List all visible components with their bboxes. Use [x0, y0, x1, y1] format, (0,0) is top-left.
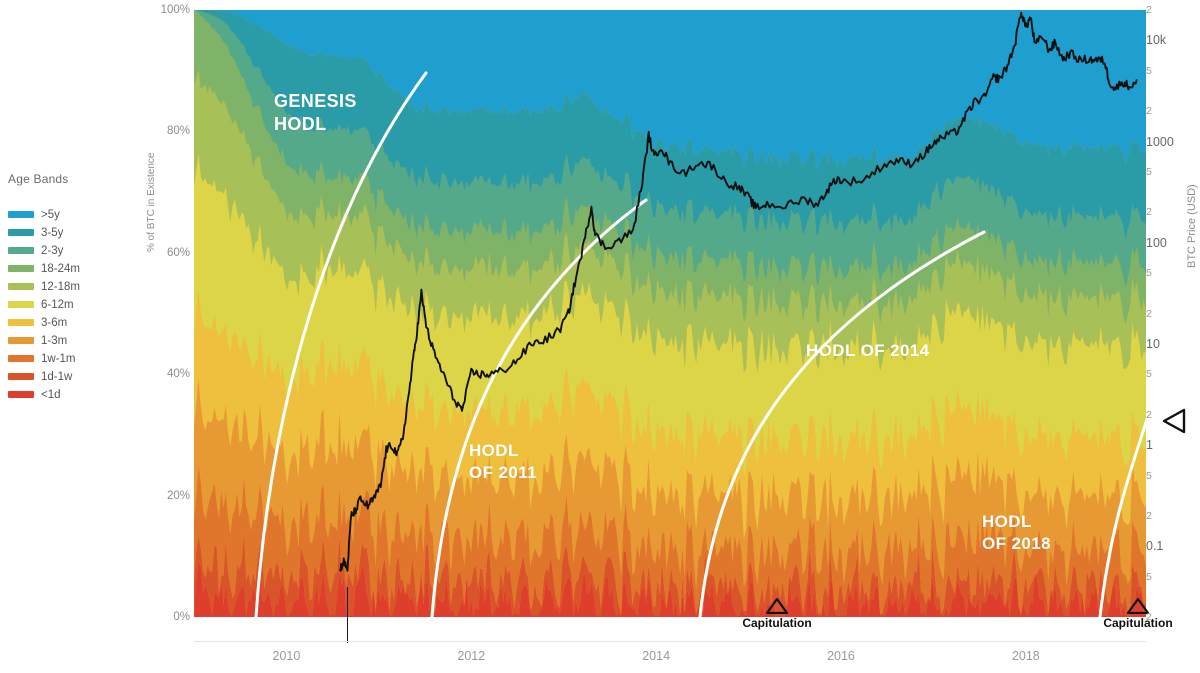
- capitulation-marker-1: Capitulation: [717, 598, 837, 630]
- legend-items: >5y3-5y2-3y18-24m12-18m6-12m3-6m1-3m1w-1…: [8, 206, 128, 403]
- legend-item-35y[interactable]: 3-5y: [8, 224, 128, 241]
- y-axis-right-tick: 0.1: [1146, 539, 1163, 553]
- legend-swatch-icon: [8, 265, 34, 272]
- legend-item-label: 18-24m: [41, 263, 80, 275]
- annotation-hodl-2014: HODL OF 2014: [806, 340, 930, 362]
- y-axis-left-tick: 80%: [144, 125, 190, 137]
- y-axis-right-title: BTC Price (USD): [1186, 184, 1198, 268]
- y-axis-right-tick: 5: [1146, 470, 1152, 482]
- y-axis-right-tick: 5: [1146, 65, 1152, 77]
- y-axis-right-tick: 5: [1146, 571, 1152, 583]
- legend-swatch-icon: [8, 373, 34, 380]
- x-axis-tick: 2010: [273, 649, 301, 663]
- y-axis-left-tick: 0%: [144, 611, 190, 623]
- y-axis-right-tick: 10k: [1146, 33, 1166, 47]
- y-axis-right-tick: 2: [1146, 611, 1152, 623]
- legend-swatch-icon: [8, 391, 34, 398]
- legend-item-1218m[interactable]: 12-18m: [8, 278, 128, 295]
- capitulation-label: Capitulation: [717, 616, 837, 630]
- y-axis-right-tick: 2: [1146, 4, 1152, 16]
- legend-item-1824m[interactable]: 18-24m: [8, 260, 128, 277]
- legend-swatch-icon: [8, 319, 34, 326]
- price-start-tick: [347, 587, 348, 643]
- legend-item-label: 2-3y: [41, 245, 63, 257]
- hodl-waves-chart: Age Bands >5y3-5y2-3y18-24m12-18m6-12m3-…: [0, 0, 1200, 673]
- x-axis-tick: 2012: [457, 649, 485, 663]
- y-axis-right-tick: 5: [1146, 166, 1152, 178]
- y-axis-left: 100%80%60%40%20%0%: [140, 0, 190, 673]
- legend-item-label: 1-3m: [41, 335, 67, 347]
- y-axis-right-tick: 5: [1146, 267, 1152, 279]
- y-axis-right-tick: 2: [1146, 206, 1152, 218]
- y-axis-left-tick: 40%: [144, 368, 190, 380]
- legend-item-label: 6-12m: [41, 299, 74, 311]
- legend-item-label: <1d: [41, 389, 61, 401]
- y-axis-right: 210k521000521005210521520.152: [1146, 0, 1186, 673]
- y-axis-left-title: % of BTC in Existence: [146, 153, 157, 252]
- y-axis-right-tick: 2: [1146, 510, 1152, 522]
- legend-item-1d[interactable]: <1d: [8, 386, 128, 403]
- legend-item-5y[interactable]: >5y: [8, 206, 128, 223]
- legend-item-612m[interactable]: 6-12m: [8, 296, 128, 313]
- legend-item-label: 12-18m: [41, 281, 80, 293]
- annotation-hodl-2011: HODL OF 2011: [469, 440, 537, 484]
- legend-swatch-icon: [8, 337, 34, 344]
- y-axis-right-tick: 100: [1146, 236, 1167, 250]
- legend-item-label: 3-6m: [41, 317, 67, 329]
- triangle-icon: [766, 598, 788, 614]
- y-axis-right-tick: 2: [1146, 105, 1152, 117]
- x-axis-tick: 2018: [1012, 649, 1040, 663]
- legend-item-1w1m[interactable]: 1w-1m: [8, 350, 128, 367]
- x-axis: 20102012201420162018: [0, 641, 1200, 673]
- legend-swatch-icon: [8, 247, 34, 254]
- legend-item-23y[interactable]: 2-3y: [8, 242, 128, 259]
- legend-item-36m[interactable]: 3-6m: [8, 314, 128, 331]
- annotation-hodl-2018: HODL OF 2018: [982, 511, 1051, 555]
- legend-item-label: 3-5y: [41, 227, 63, 239]
- y-axis-left-tick: 100%: [144, 4, 190, 16]
- y-axis-right-tick: 2: [1146, 308, 1152, 320]
- legend-swatch-icon: [8, 229, 34, 236]
- legend-swatch-icon: [8, 283, 34, 290]
- legend-item-label: 1w-1m: [41, 353, 76, 365]
- y-axis-right-tick: 1000: [1146, 135, 1174, 149]
- y-axis-right-tick: 1: [1146, 438, 1153, 452]
- legend-item-label: 1d-1w: [41, 371, 72, 383]
- y-axis-right-tick: 5: [1146, 368, 1152, 380]
- legend: Age Bands >5y3-5y2-3y18-24m12-18m6-12m3-…: [8, 172, 128, 404]
- legend-item-1d1w[interactable]: 1d-1w: [8, 368, 128, 385]
- legend-item-label: >5y: [41, 209, 60, 221]
- legend-swatch-icon: [8, 301, 34, 308]
- legend-swatch-icon: [8, 355, 34, 362]
- x-axis-tick: 2014: [642, 649, 670, 663]
- legend-swatch-icon: [8, 211, 34, 218]
- y-axis-right-tick: 2: [1146, 409, 1152, 421]
- annotation-genesis-hodl: GENESIS HODL: [274, 90, 357, 136]
- legend-item-13m[interactable]: 1-3m: [8, 332, 128, 349]
- x-axis-tick: 2016: [827, 649, 855, 663]
- y-axis-right-tick: 10: [1146, 337, 1160, 351]
- legend-title: Age Bands: [8, 172, 128, 186]
- y-axis-left-tick: 20%: [144, 490, 190, 502]
